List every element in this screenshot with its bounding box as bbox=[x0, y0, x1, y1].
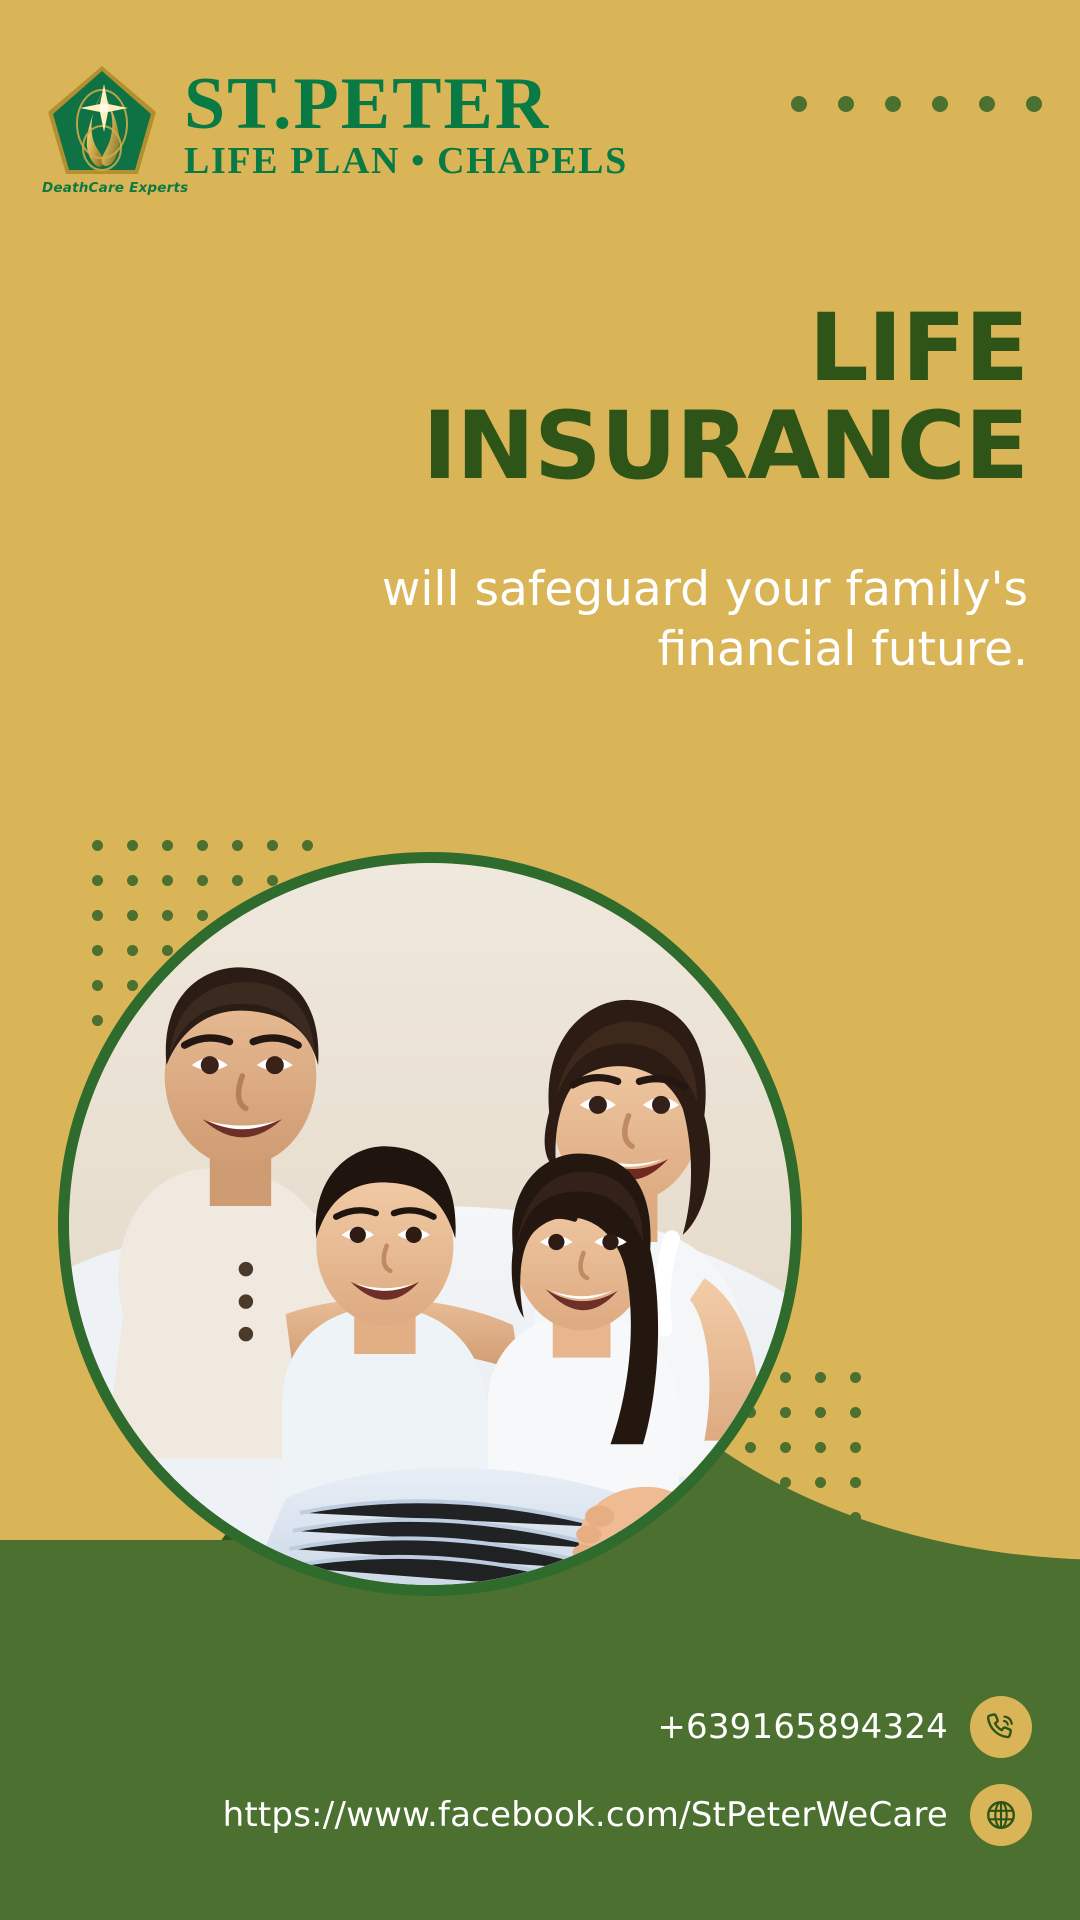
subheadline: will safeguard your family's financial f… bbox=[308, 560, 1028, 680]
brand-logo[interactable]: DeathCare Experts ST.PETER LIFE PLAN • C… bbox=[42, 62, 628, 202]
contact-phone[interactable]: +639165894324 bbox=[657, 1696, 1032, 1758]
dot bbox=[1026, 96, 1042, 112]
headline-line-1: LIFE bbox=[248, 300, 1028, 398]
dot bbox=[850, 1512, 861, 1523]
headline: LIFE INSURANCE bbox=[248, 300, 1028, 496]
dot bbox=[815, 1407, 826, 1418]
logo-tagline: DeathCare Experts bbox=[42, 180, 162, 196]
decorative-dot-row bbox=[791, 96, 1042, 112]
phone-icon[interactable] bbox=[970, 1696, 1032, 1758]
contact-website-text: https://www.facebook.com/StPeterWeCare bbox=[223, 1795, 948, 1835]
dot bbox=[979, 96, 995, 112]
dot bbox=[162, 840, 173, 851]
photo-ring bbox=[58, 852, 802, 1596]
dot bbox=[815, 1477, 826, 1488]
dot bbox=[127, 840, 138, 851]
dot bbox=[815, 1512, 826, 1523]
dot bbox=[850, 1477, 861, 1488]
dot bbox=[232, 840, 243, 851]
brand-name-secondary: LIFE PLAN • CHAPELS bbox=[184, 140, 628, 183]
brand-name-primary: ST.PETER bbox=[184, 70, 628, 138]
dot bbox=[791, 96, 807, 112]
family-photo bbox=[58, 852, 802, 1596]
dot bbox=[197, 840, 208, 851]
dot bbox=[838, 96, 854, 112]
dot bbox=[932, 96, 948, 112]
subheadline-line-2: financial future. bbox=[308, 620, 1028, 680]
contact-footer: +639165894324 https://www.facebook.com/S… bbox=[223, 1696, 1032, 1846]
photo-image bbox=[69, 863, 791, 1585]
dot bbox=[267, 840, 278, 851]
contact-website[interactable]: https://www.facebook.com/StPeterWeCare bbox=[223, 1784, 1032, 1846]
dot bbox=[885, 96, 901, 112]
brand-wordmark: ST.PETER LIFE PLAN • CHAPELS bbox=[184, 62, 628, 183]
dot bbox=[850, 1407, 861, 1418]
dot bbox=[850, 1442, 861, 1453]
subheadline-line-1: will safeguard your family's bbox=[308, 560, 1028, 620]
contact-phone-text: +639165894324 bbox=[657, 1707, 948, 1747]
dot bbox=[850, 1372, 861, 1383]
headline-line-2: INSURANCE bbox=[248, 398, 1028, 496]
poster-canvas: DeathCare Experts ST.PETER LIFE PLAN • C… bbox=[0, 0, 1080, 1920]
dot bbox=[92, 840, 103, 851]
dot bbox=[815, 1372, 826, 1383]
globe-icon[interactable] bbox=[970, 1784, 1032, 1846]
dot bbox=[815, 1442, 826, 1453]
dot bbox=[302, 840, 313, 851]
